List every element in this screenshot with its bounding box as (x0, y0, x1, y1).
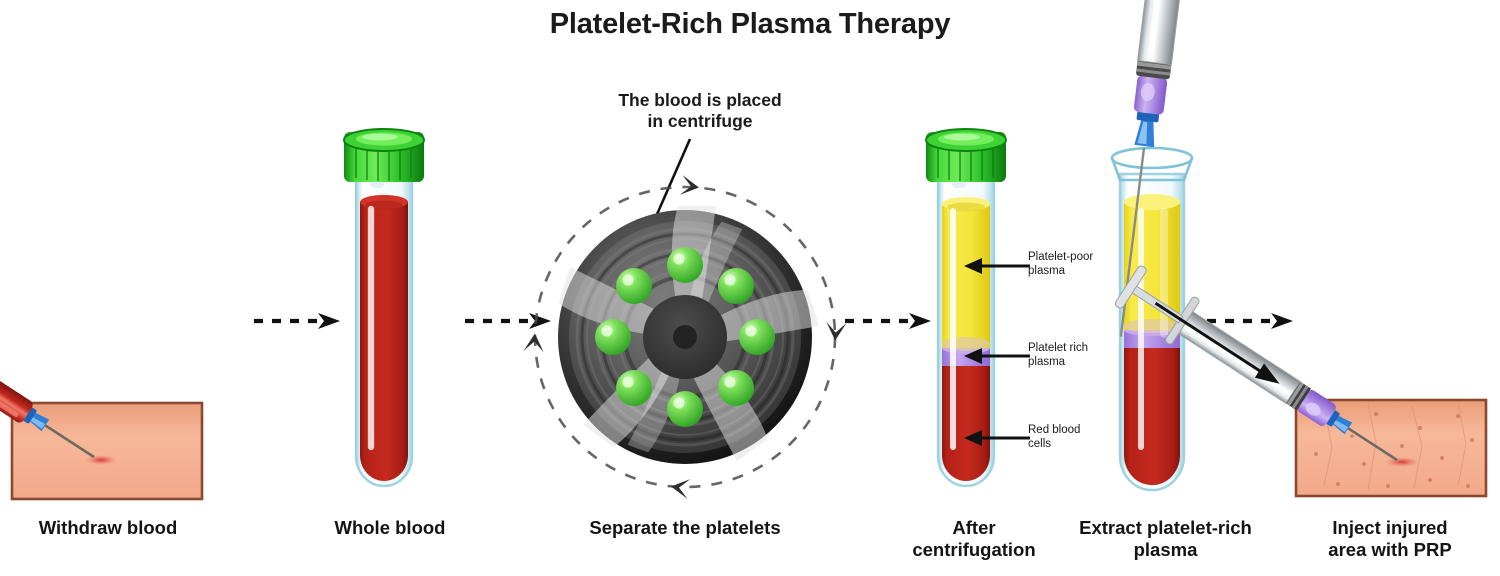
step-withdraw-blood-illustration (8, 195, 273, 500)
infographic-canvas: Platelet-Rich Plasma Therapy The blood i… (0, 0, 1500, 576)
dashed-arrow-icon (252, 312, 344, 330)
leader-arrow-red-blood-cells (960, 430, 1032, 446)
leader-arrow-platelet-rich-plasma (960, 348, 1032, 364)
caption-whole-blood: Whole blood (290, 517, 490, 539)
step-extract-prp-illustration (1098, 28, 1228, 503)
caption-withdraw-blood: Withdraw blood (8, 517, 208, 539)
step-whole-blood-illustration (336, 126, 448, 501)
page-title: Platelet-Rich Plasma Therapy (0, 8, 1500, 41)
caption-extract-prp: Extract platelet-rich plasma (1063, 517, 1268, 561)
caption-after-centrifugation: After centrifugation (898, 517, 1050, 561)
step-centrifuge-illustration (520, 170, 850, 500)
centrifuge-annotation: The blood is placed in centrifuge (565, 90, 835, 132)
caption-separate-platelets: Separate the platelets (555, 517, 815, 539)
step-inject-prp-illustration (1272, 218, 1500, 503)
caption-inject-prp: Inject injured area with PRP (1295, 517, 1485, 561)
leader-arrow-platelet-poor-plasma (960, 258, 1032, 274)
